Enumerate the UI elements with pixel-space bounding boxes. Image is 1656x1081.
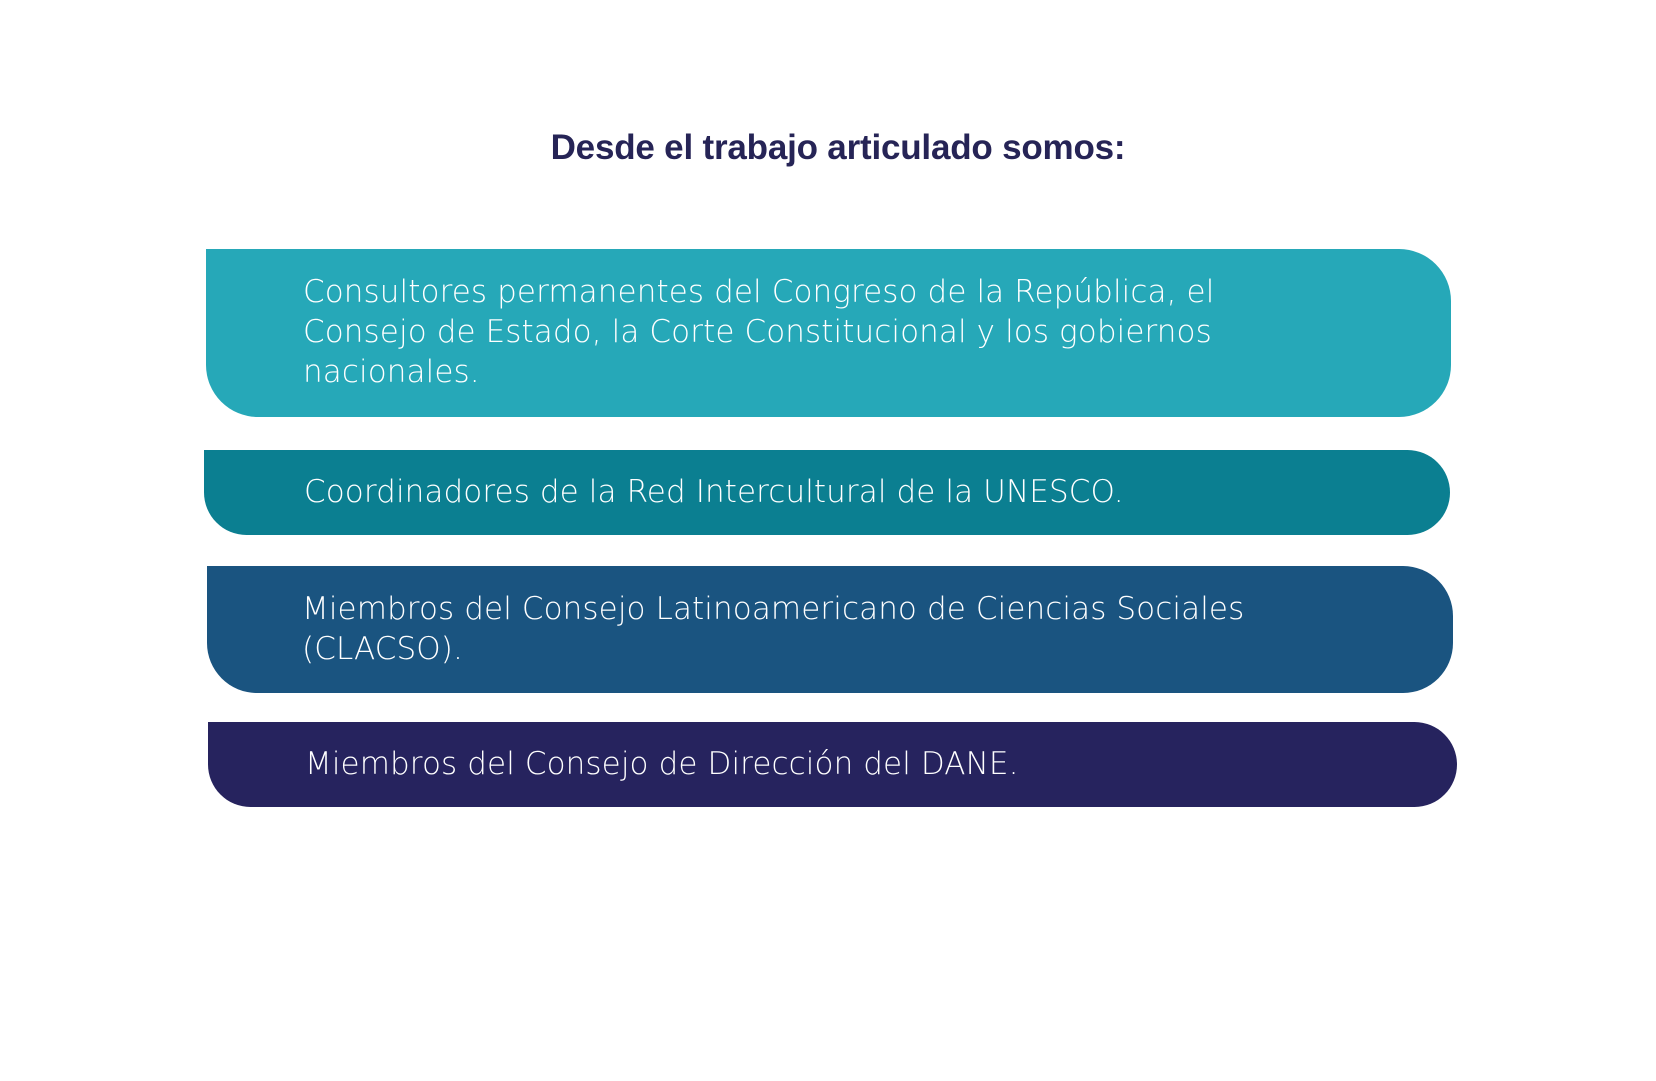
page-title: Desde el trabajo articulado somos: bbox=[0, 128, 1656, 168]
list-item-consultores[interactable]: Consultores permanentes del Congreso de … bbox=[206, 249, 1451, 417]
slide-canvas: Desde el trabajo articulado somos: Consu… bbox=[0, 0, 1656, 1081]
list-item-label: Miembros del Consejo de Dirección del DA… bbox=[305, 745, 1355, 785]
list-item-clacso[interactable]: Miembros del Consejo Latinoamericano de … bbox=[207, 566, 1453, 693]
list-item-coordinadores[interactable]: Coordinadores de la Red Intercultural de… bbox=[204, 450, 1450, 535]
list-item-dane[interactable]: Miembros del Consejo de Dirección del DA… bbox=[208, 722, 1457, 807]
list-item-label: Coordinadores de la Red Intercultural de… bbox=[304, 473, 1354, 513]
list-item-label: Consultores permanentes del Congreso de … bbox=[303, 273, 1313, 392]
list-item-label: Miembros del Consejo Latinoamericano de … bbox=[302, 590, 1362, 669]
